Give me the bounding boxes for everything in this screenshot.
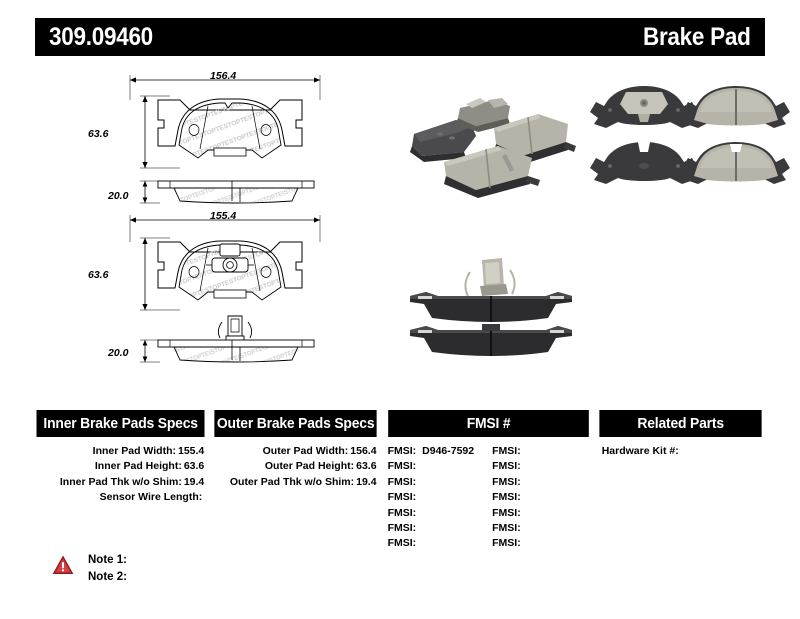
outer-pad-height-dim: 63.6 <box>88 128 108 140</box>
fmsi-row-value <box>521 522 527 534</box>
inner-spec-row: Inner Pad Thk w/o Shim:19.4 <box>33 475 208 490</box>
fmsi-row-value <box>416 537 422 549</box>
fmsi-row: FMSI: <box>488 444 593 459</box>
inner-pad-thickness-dim: 20.0 <box>108 347 128 359</box>
fmsi-row-value <box>416 476 422 488</box>
fmsi-row-label: FMSI: <box>492 507 521 519</box>
fmsi-row: FMSI: <box>488 536 593 551</box>
fmsi-row-value <box>521 537 527 549</box>
fmsi-row-value <box>416 491 422 503</box>
fmsi-row-label: FMSI: <box>388 522 417 534</box>
fmsi-row-label: FMSI: <box>492 460 521 472</box>
inner-spec-row: Inner Pad Height:63.6 <box>33 459 208 474</box>
outer-spec-row: Outer Pad Height:63.6 <box>211 459 380 474</box>
column-header-related-parts: Related Parts <box>599 410 762 437</box>
product-photo-edge-pair <box>396 252 586 362</box>
fmsi-row: FMSI: <box>488 459 593 474</box>
fmsi-row-value <box>416 507 422 519</box>
fmsi-left-list: FMSI:D946-7592FMSI:FMSI:FMSI:FMSI:FMSI:F… <box>384 444 489 552</box>
inner-spec-row-value <box>202 491 204 503</box>
related-part-row: Hardware Kit #: <box>596 444 765 459</box>
outer-spec-row-label: Outer Pad Thk w/o Shim: <box>230 476 354 488</box>
inner-spec-row-value: 63.6 <box>182 460 204 472</box>
inner-spec-row-value: 19.4 <box>182 476 204 488</box>
fmsi-row-value <box>521 445 527 457</box>
table-header-row: Inner Brake Pads Specs Outer Brake Pads … <box>33 410 765 437</box>
column-header-outer: Outer Brake Pads Specs <box>215 410 378 437</box>
fmsi-row-value <box>521 476 527 488</box>
fmsi-row-value <box>416 460 422 472</box>
outer-pad-thickness-dim: 20.0 <box>108 190 128 202</box>
technical-drawings: STOPTECH 156.4 63. <box>0 62 800 392</box>
fmsi-row-label: FMSI: <box>388 537 417 549</box>
related-part-row-label: Hardware Kit #: <box>602 445 679 457</box>
fmsi-row-label: FMSI: <box>492 537 521 549</box>
inner-spec-row: Inner Pad Width:155.4 <box>33 444 208 459</box>
product-photo-group <box>398 84 578 194</box>
fmsi-row: FMSI: <box>488 521 593 536</box>
fmsi-row: FMSI:D946-7592 <box>384 444 489 459</box>
note-lines: Note 1:Note 2: <box>88 552 127 586</box>
inner-pad-width-dim: 155.4 <box>210 210 236 222</box>
fmsi-row-value <box>416 522 422 534</box>
fmsi-row-label: FMSI: <box>492 491 521 503</box>
fmsi-row: FMSI: <box>384 506 489 521</box>
fmsi-row-label: FMSI: <box>388 445 417 457</box>
fmsi-column: FMSI:D946-7592FMSI:FMSI:FMSI:FMSI:FMSI:F… <box>384 444 593 552</box>
fmsi-right-list: FMSI:FMSI:FMSI:FMSI:FMSI:FMSI:FMSI: <box>488 444 593 552</box>
fmsi-row: FMSI: <box>384 459 489 474</box>
fmsi-row-label: FMSI: <box>388 476 417 488</box>
inner-spec-row-label: Inner Pad Width: <box>93 445 176 457</box>
product-photo-grid <box>582 84 762 194</box>
fmsi-row: FMSI: <box>488 506 593 521</box>
specs-table: Inner Brake Pads Specs Outer Brake Pads … <box>33 410 765 552</box>
inner-spec-row-value: 155.4 <box>176 445 204 457</box>
outer-spec-row-value: 156.4 <box>348 445 376 457</box>
fmsi-row-label: FMSI: <box>388 460 417 472</box>
outer-spec-row-value: 63.6 <box>354 460 376 472</box>
fmsi-row-label: FMSI: <box>388 491 417 503</box>
header-bar: 309.09460 Brake Pad <box>35 18 765 56</box>
column-header-inner: Inner Brake Pads Specs <box>37 410 205 437</box>
inner-spec-row-label: Sensor Wire Length: <box>100 491 203 503</box>
outer-spec-row-label: Outer Pad Height: <box>265 460 354 472</box>
table-body: Inner Pad Width:155.4Inner Pad Height:63… <box>33 437 765 552</box>
inner-spec-row-label: Inner Pad Height: <box>95 460 182 472</box>
fmsi-row: FMSI: <box>384 536 489 551</box>
outer-spec-row-value: 19.4 <box>354 476 376 488</box>
fmsi-row: FMSI: <box>488 475 593 490</box>
fmsi-row: FMSI: <box>384 475 489 490</box>
notes-section: Note 1:Note 2: <box>52 552 127 586</box>
inner-specs-column: Inner Pad Width:155.4Inner Pad Height:63… <box>33 444 208 552</box>
related-parts-column: Hardware Kit #: <box>596 444 765 552</box>
fmsi-row: FMSI: <box>488 490 593 505</box>
outer-pad-width-dim: 156.4 <box>210 70 236 82</box>
outer-spec-row-label: Outer Pad Width: <box>263 445 349 457</box>
fmsi-row-value <box>521 460 527 472</box>
outer-specs-column: Outer Pad Width:156.4Outer Pad Height:63… <box>211 444 380 552</box>
inner-spec-row-label: Inner Pad Thk w/o Shim: <box>60 476 182 488</box>
fmsi-row-label: FMSI: <box>492 445 521 457</box>
page-title: Brake Pad <box>643 23 751 52</box>
inner-pad-edge-drawing <box>140 310 320 368</box>
inner-pad-height-dim: 63.6 <box>88 269 108 281</box>
column-header-fmsi: FMSI # <box>388 410 589 437</box>
fmsi-row-value <box>521 491 527 503</box>
outer-spec-row: Outer Pad Thk w/o Shim:19.4 <box>211 475 380 490</box>
outer-pad-edge-drawing: STOPTECH <box>140 177 320 209</box>
outer-pad-face-drawing: STOPTECH <box>120 70 330 180</box>
note-line: Note 1: <box>88 552 127 569</box>
fmsi-row: FMSI: <box>384 521 489 536</box>
inner-spec-row: Sensor Wire Length: <box>33 490 208 505</box>
fmsi-row-label: FMSI: <box>388 507 417 519</box>
part-number: 309.09460 <box>49 23 153 52</box>
fmsi-row-label: FMSI: <box>492 522 521 534</box>
fmsi-row: FMSI: <box>384 490 489 505</box>
fmsi-row-value: D946-7592 <box>416 445 474 457</box>
fmsi-row-label: FMSI: <box>492 476 521 488</box>
fmsi-row-value <box>521 507 527 519</box>
outer-spec-row: Outer Pad Width:156.4 <box>211 444 380 459</box>
warning-triangle-icon <box>52 555 74 575</box>
note-line: Note 2: <box>88 569 127 586</box>
inner-pad-face-drawing <box>120 210 330 322</box>
